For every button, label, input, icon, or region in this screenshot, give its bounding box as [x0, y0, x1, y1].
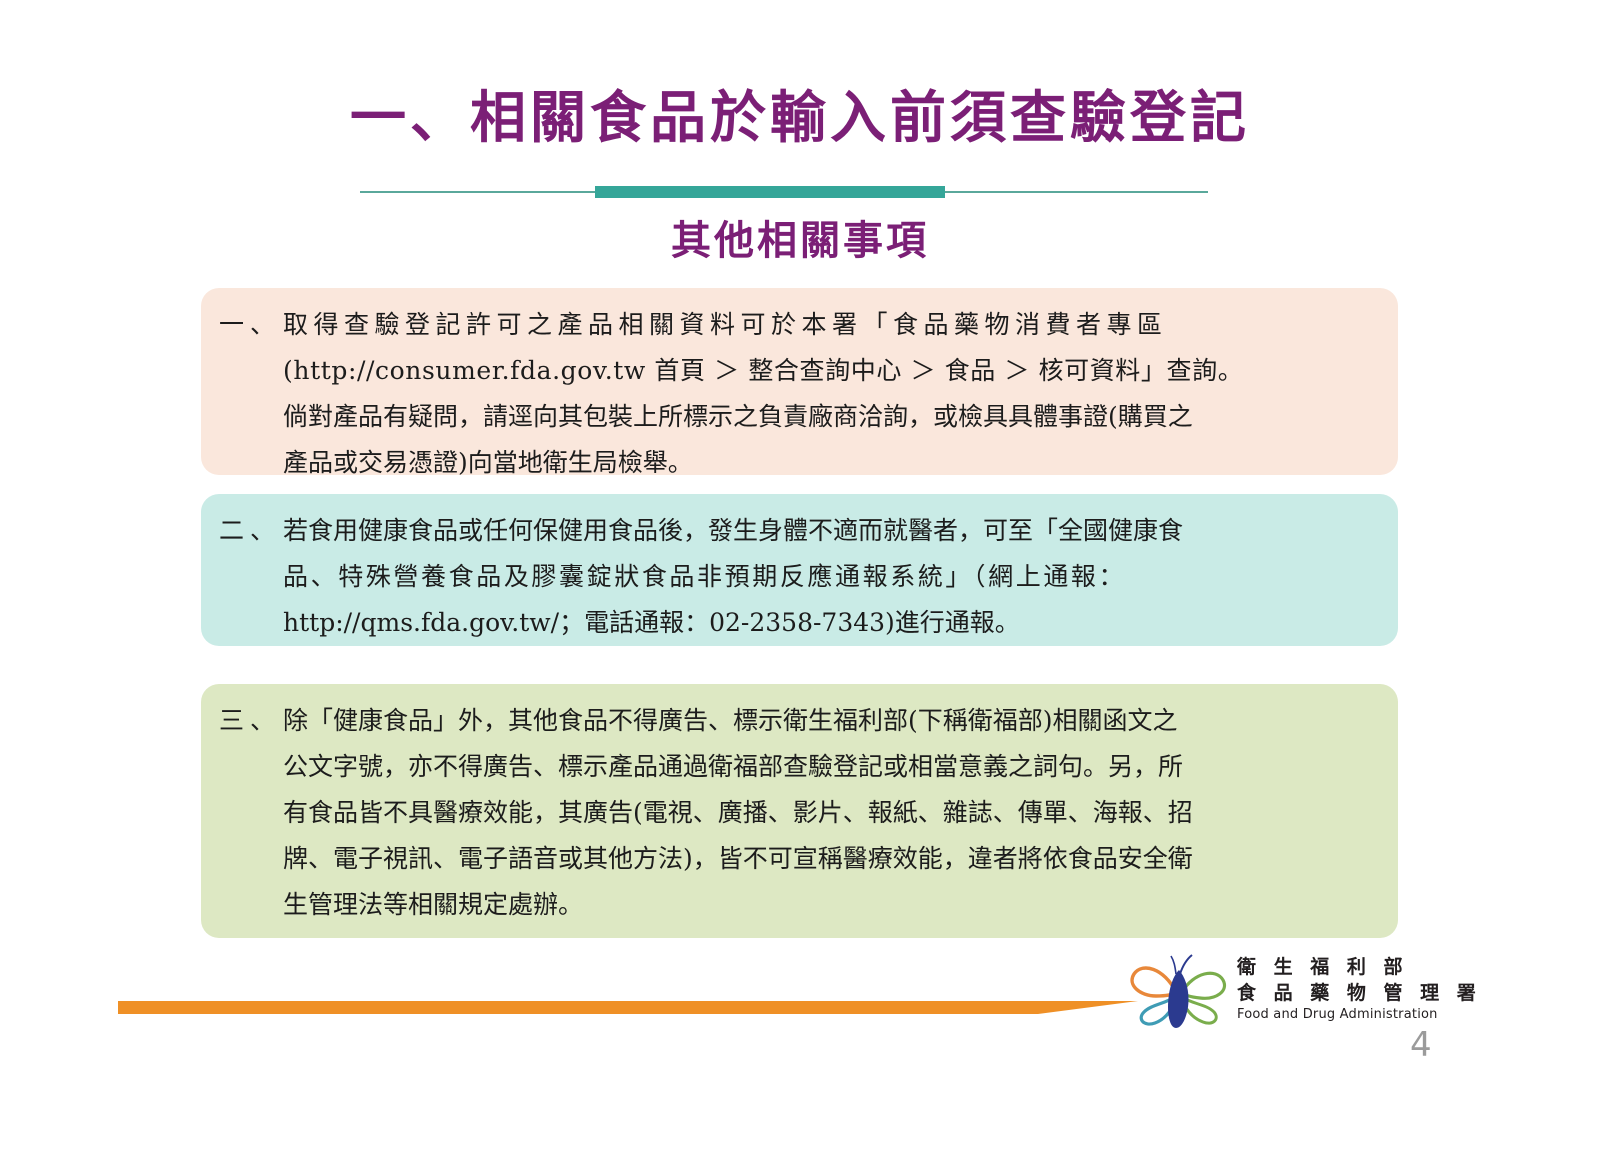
paragraph-1-line-2: (http://consumer.fda.gov.tw 首頁 ＞ 整合查詢中心 … [283, 348, 1376, 394]
paragraph-2-line-3: http://qms.fda.gov.tw/；電話通報：02-2358-7343… [283, 600, 1376, 646]
paragraph-3-line-2: 公文字號，亦不得廣告、標示產品通過衛福部查驗登記或相當意義之詞句。另，所 [283, 744, 1376, 790]
fda-agency-english: Food and Drug Administration [1237, 1006, 1427, 1023]
fda-wordmark: 衛 生 福 利 部 食 品 藥 物 管 理 署 Food and Drug Ad… [1237, 954, 1427, 1023]
footer-orange-bar [118, 1001, 1138, 1014]
paragraph-3-line-4: 牌、電子視訊、電子語音或其他方法)，皆不可宣稱醫療效能，違者將依食品安全衛 [283, 836, 1376, 882]
content-box-item-2: 二、 若食用健康食品或任何保健用食品後，發生身體不適而就醫者，可至「全國健康食 … [201, 494, 1398, 646]
paragraph-3: 三、 除「健康食品」外，其他食品不得廣告、標示衛生福利部(下稱衛福部)相關函文之… [219, 698, 1376, 928]
footer-bar-rect [118, 1001, 1038, 1014]
paragraph-1-line-3: 倘對產品有疑問，請逕向其包裝上所標示之負責廠商洽詢，或檢具具體事證(購買之 [283, 394, 1376, 440]
list-marker-3: 三、 [219, 698, 283, 744]
paragraph-2-line-1: 若食用健康食品或任何保健用食品後，發生身體不適而就醫者，可至「全國健康食 [283, 508, 1376, 554]
paragraph-2: 二、 若食用健康食品或任何保健用食品後，發生身體不適而就醫者，可至「全國健康食 … [219, 508, 1376, 646]
fda-butterfly-taiwan-logo-icon [1124, 952, 1234, 1034]
page-title: 一、相關食品於輸入前須查驗登記 [0, 86, 1600, 150]
divider-accent-bar [595, 186, 945, 198]
content-box-item-1: 一、 取得查驗登記許可之產品相關資料可於本署「食品藥物消費者專區 (http:/… [201, 288, 1398, 475]
page-number: 4 [1410, 1025, 1470, 1065]
paragraph-1: 一、 取得查驗登記許可之產品相關資料可於本署「食品藥物消費者專區 (http:/… [219, 302, 1376, 486]
page-subtitle: 其他相關事項 [0, 208, 1600, 266]
paragraph-3-line-1: 除「健康食品」外，其他食品不得廣告、標示衛生福利部(下稱衛福部)相關函文之 [283, 698, 1376, 744]
title-divider [360, 186, 1208, 198]
paragraph-1-line-4: 產品或交易憑證)向當地衛生局檢舉。 [283, 440, 1376, 486]
list-marker-1: 一、 [219, 302, 283, 348]
footer-bar-taper [1038, 1001, 1138, 1014]
fda-logo: 衛 生 福 利 部 食 品 藥 物 管 理 署 Food and Drug Ad… [1124, 952, 1424, 1034]
paragraph-2-line-2: 品、特殊營養食品及膠囊錠狀食品非預期反應通報系統」（網上通報： [283, 554, 1376, 600]
fda-agency-line-2: 食 品 藥 物 管 理 署 [1237, 980, 1427, 1006]
paragraph-3-line-5: 生管理法等相關規定處辦。 [283, 882, 1376, 928]
paragraph-1-line-1: 取得查驗登記許可之產品相關資料可於本署「食品藥物消費者專區 [283, 302, 1376, 348]
fda-agency-line-1: 衛 生 福 利 部 [1237, 954, 1427, 980]
paragraph-3-line-3: 有食品皆不具醫療效能，其廣告(電視、廣播、影片、報紙、雜誌、傳單、海報、招 [283, 790, 1376, 836]
paragraph-1-body: 取得查驗登記許可之產品相關資料可於本署「食品藥物消費者專區 (http://co… [283, 302, 1376, 486]
paragraph-2-body: 若食用健康食品或任何保健用食品後，發生身體不適而就醫者，可至「全國健康食 品、特… [283, 508, 1376, 646]
paragraph-3-body: 除「健康食品」外，其他食品不得廣告、標示衛生福利部(下稱衛福部)相關函文之 公文… [283, 698, 1376, 928]
content-box-item-3: 三、 除「健康食品」外，其他食品不得廣告、標示衛生福利部(下稱衛福部)相關函文之… [201, 684, 1398, 938]
list-marker-2: 二、 [219, 508, 283, 554]
